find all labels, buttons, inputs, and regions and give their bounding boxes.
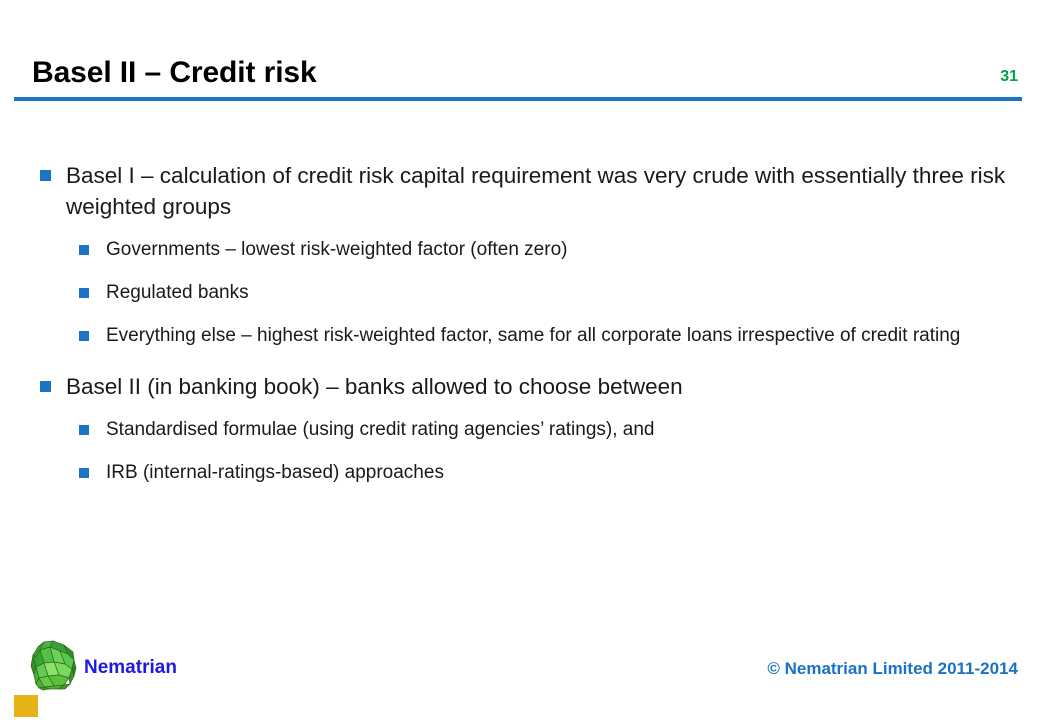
bullet-item-level1: Basel I – calculation of credit risk cap… (0, 160, 1040, 222)
bullet-item-level2: Everything else – highest risk-weighted … (0, 322, 1040, 349)
footer-copyright: © Nematrian Limited 2011-2014 (767, 659, 1018, 679)
bullet-square-icon (79, 288, 89, 298)
corner-accent-square (14, 695, 38, 717)
bullet-square-icon (79, 468, 89, 478)
bullet-item-level2: Regulated banks (0, 279, 1040, 306)
bullet-item-level2: Standardised formulae (using credit rati… (0, 416, 1040, 443)
bullet-text: IRB (internal-ratings-based) approaches (106, 462, 444, 483)
slide-body: Basel I – calculation of credit risk cap… (0, 160, 1040, 502)
slide-page-number: 31 (1000, 68, 1018, 86)
bullet-item-level1: Basel II (in banking book) – banks allow… (0, 371, 1040, 402)
title-divider (14, 97, 1022, 101)
bullet-text: Governments – lowest risk-weighted facto… (106, 239, 567, 260)
bullet-item-level2: IRB (internal-ratings-based) approaches (0, 459, 1040, 486)
bullet-text: Basel I – calculation of credit risk cap… (66, 163, 1005, 219)
bullet-item-level2: Governments – lowest risk-weighted facto… (0, 236, 1040, 263)
bullet-square-icon (40, 170, 51, 181)
bullet-text: Everything else – highest risk-weighted … (106, 325, 960, 346)
green-polyhedron-sphere-icon (26, 638, 80, 692)
footer-brand-label: Nematrian (84, 657, 177, 679)
bullet-square-icon (40, 381, 51, 392)
bullet-text: Basel II (in banking book) – banks allow… (66, 374, 683, 399)
bullet-text: Standardised formulae (using credit rati… (106, 419, 655, 440)
bullet-square-icon (79, 331, 89, 341)
slide-canvas: Basel II – Credit risk 31 Basel I – calc… (0, 0, 1040, 720)
bullet-text: Regulated banks (106, 282, 249, 303)
bullet-square-icon (79, 245, 89, 255)
bullet-square-icon (79, 425, 89, 435)
page-title: Basel II – Credit risk (32, 56, 317, 90)
